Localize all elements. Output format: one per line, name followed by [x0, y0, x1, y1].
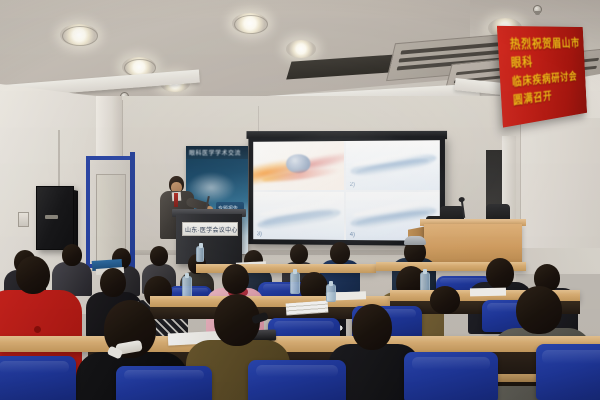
photo-scene: 热烈祝贺眉山市眼科 临床疾病研讨会圆满召开 2) 3) 4): [0, 0, 600, 400]
attendee-head: [430, 286, 460, 314]
podium-sign: 山东·医学会议中心: [182, 222, 238, 236]
wall-speaker-icon: [36, 186, 74, 250]
water-bottle: [290, 272, 300, 294]
chair[interactable]: [536, 344, 600, 400]
chair[interactable]: [404, 352, 498, 400]
slide-caption: 3): [257, 231, 262, 237]
water-bottle: [326, 284, 336, 302]
slide-caption: 2): [350, 182, 355, 188]
slide-quadrant-3: 3): [253, 191, 344, 239]
attendee-head: [516, 286, 562, 334]
red-congratulation-banner: 热烈祝贺眉山市眼科 临床疾病研讨会圆满召开: [497, 26, 587, 128]
light-switch-icon[interactable]: [18, 212, 29, 227]
paper-on-desk: [470, 288, 506, 297]
door-frame-trim: [130, 152, 135, 270]
attendee-cap: [404, 236, 426, 245]
slide-quadrant-2: 2): [346, 140, 440, 189]
chair[interactable]: [0, 356, 76, 400]
attendee-head: [486, 258, 514, 289]
chair[interactable]: [116, 366, 212, 400]
right-wall-panel: [520, 118, 600, 248]
attendee-head: [16, 256, 50, 294]
downlight-icon: [286, 40, 316, 58]
podium-sign-text: 山东·医学会议中心: [185, 225, 238, 234]
attendee-head: [150, 246, 168, 266]
downlight-ring: [62, 26, 98, 46]
attendee-head: [352, 304, 392, 350]
speaker-cable: [58, 130, 60, 188]
rollup-title-text: 眼科医学学术交流: [189, 148, 241, 157]
chair[interactable]: [248, 360, 346, 400]
desk-row-front: [0, 336, 600, 352]
speaker-badge: [45, 215, 58, 219]
slide-quadrant-1: [253, 141, 344, 190]
presenter-tie: [174, 193, 178, 207]
banner-text: 热烈祝贺眉山市眼科 临床疾病研讨会圆满召开: [509, 36, 584, 110]
attendee-head: [290, 244, 308, 264]
coat-button: [34, 326, 41, 333]
attendee-head: [100, 268, 126, 297]
downlight-ring: [234, 15, 268, 34]
slide-grid: 2) 3) 4): [253, 140, 440, 241]
attendee-head: [222, 264, 249, 294]
attendee-head: [62, 244, 82, 266]
water-bottle: [182, 276, 192, 298]
attendee-head: [330, 242, 350, 264]
sprinkler-icon: [533, 5, 542, 14]
water-bottle: [196, 246, 204, 262]
slide-caption: 4): [350, 232, 355, 238]
